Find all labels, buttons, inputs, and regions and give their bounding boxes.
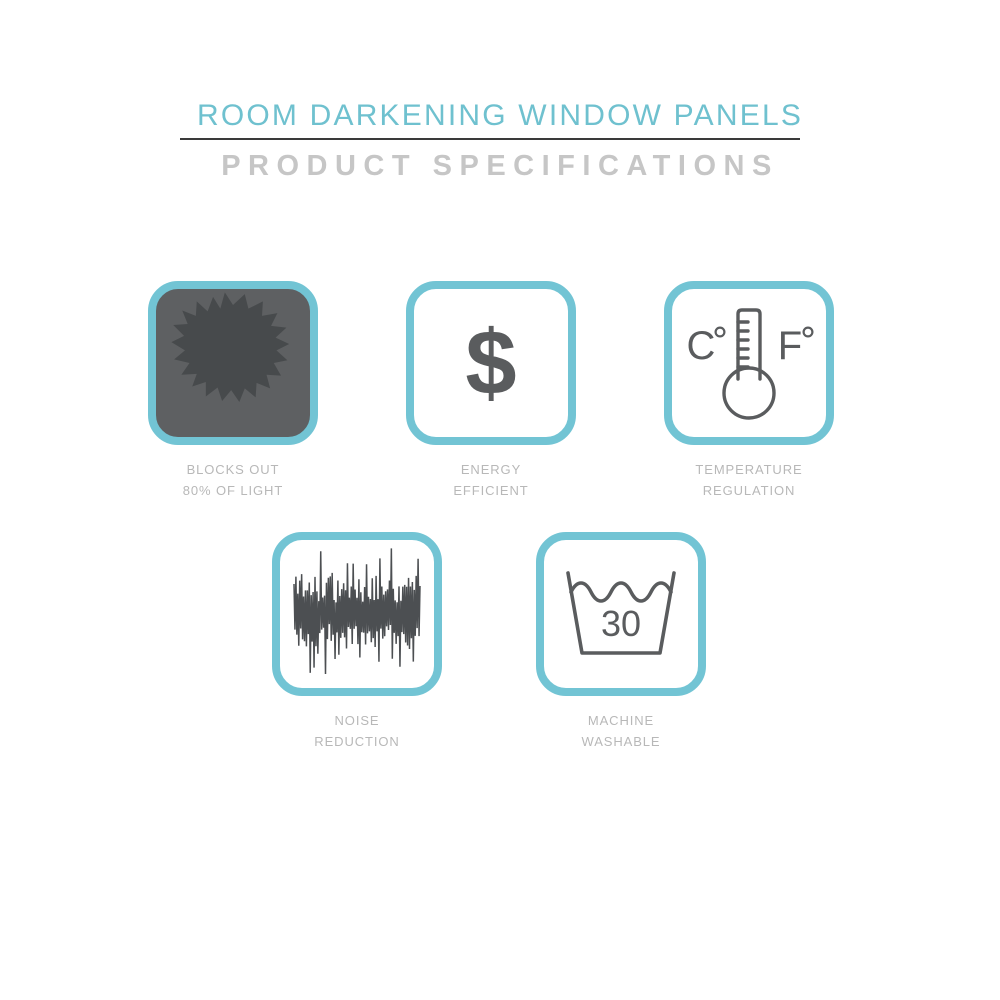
caption-line-2: WASHABLE bbox=[536, 731, 706, 752]
starburst-sun-icon bbox=[156, 281, 310, 445]
header-divider bbox=[180, 138, 800, 140]
feature-caption: BLOCKS OUT 80% OF LIGHT bbox=[148, 459, 318, 501]
feature-tile: $ bbox=[406, 281, 576, 445]
tile-icon-area bbox=[280, 540, 434, 688]
page-title: ROOM DARKENING WINDOW PANELS bbox=[0, 97, 1000, 135]
feature-caption: TEMPERATURE REGULATION bbox=[664, 459, 834, 501]
caption-line-2: REDUCTION bbox=[272, 731, 442, 752]
feature-tile: 30 bbox=[536, 532, 706, 696]
fahrenheit-label: F bbox=[778, 324, 802, 368]
thermometer-icon: C F bbox=[672, 289, 826, 437]
feature-caption: ENERGY EFFICIENT bbox=[406, 459, 576, 501]
caption-line-1: BLOCKS OUT bbox=[148, 459, 318, 480]
feature-card-machine-washable[interactable]: 30 MACHINE WASHABLE bbox=[536, 532, 706, 752]
caption-line-1: ENERGY bbox=[406, 459, 576, 480]
caption-line-1: TEMPERATURE bbox=[664, 459, 834, 480]
dollar-sign-icon: $ bbox=[465, 317, 516, 409]
degree-symbol-fahrenheit-icon bbox=[804, 328, 813, 337]
feature-card-temperature-regulation[interactable]: C F TEMPERATURE REGULATION bbox=[664, 281, 834, 501]
feature-caption: MACHINE WASHABLE bbox=[536, 710, 706, 752]
feature-card-noise-reduction[interactable]: NOISE REDUCTION bbox=[272, 532, 442, 752]
feature-tile bbox=[148, 281, 318, 445]
caption-line-1: NOISE bbox=[272, 710, 442, 731]
tile-icon-area: C F bbox=[672, 289, 826, 437]
tile-icon-area bbox=[156, 289, 310, 437]
infographic-page: ROOM DARKENING WINDOW PANELS PRODUCT SPE… bbox=[0, 0, 1000, 1000]
celsius-label: C bbox=[687, 324, 716, 368]
caption-line-2: EFFICIENT bbox=[406, 480, 576, 501]
wash-tub-icon: 30 bbox=[544, 540, 698, 688]
feature-tile: C F bbox=[664, 281, 834, 445]
caption-line-2: 80% OF LIGHT bbox=[148, 480, 318, 501]
wash-temperature-label: 30 bbox=[601, 603, 641, 644]
feature-card-energy-efficient[interactable]: $ ENERGY EFFICIENT bbox=[406, 281, 576, 501]
sound-waveform-icon bbox=[280, 540, 434, 688]
tile-icon-area: 30 bbox=[544, 540, 698, 688]
caption-line-1: MACHINE bbox=[536, 710, 706, 731]
tile-icon-area: $ bbox=[414, 289, 568, 437]
feature-tile bbox=[272, 532, 442, 696]
caption-line-2: REGULATION bbox=[664, 480, 834, 501]
feature-caption: NOISE REDUCTION bbox=[272, 710, 442, 752]
feature-card-blocks-light[interactable]: BLOCKS OUT 80% OF LIGHT bbox=[148, 281, 318, 501]
degree-symbol-celsius-icon bbox=[716, 328, 725, 337]
page-subtitle: PRODUCT SPECIFICATIONS bbox=[0, 146, 1000, 186]
